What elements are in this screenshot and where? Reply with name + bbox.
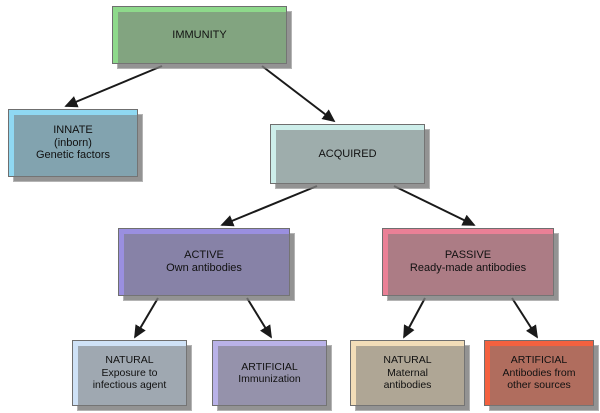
node-title: IMMUNITY [172, 29, 226, 42]
node-subtitle-2: infectious agent [93, 379, 167, 391]
connector-immunity-to-acquired [262, 66, 334, 121]
diagram-canvas: IMMUNITYINNATE(inborn)Genetic factorsACQ… [0, 0, 600, 413]
node-subtitle-1: (inborn) [54, 137, 92, 150]
node-subtitle-1: Immunization [238, 373, 300, 385]
node-title: NATURAL [383, 354, 431, 366]
connector-acquired-to-active [222, 186, 317, 225]
node-passive-natural[interactable]: NATURALMaternalantibodies [350, 340, 465, 406]
connector-passive-to-natural [404, 298, 425, 337]
node-title: NATURAL [105, 354, 153, 366]
node-title: ACTIVE [184, 249, 224, 262]
node-subtitle-1: Exposure to [101, 367, 157, 379]
connector-active-to-artificial [247, 298, 271, 337]
node-passive-artificial[interactable]: ARTIFICIALAntibodies fromother sources [484, 340, 594, 406]
node-subtitle-1: Maternal [387, 367, 428, 379]
node-acquired[interactable]: ACQUIRED [270, 124, 425, 184]
node-title: ARTIFICIAL [511, 354, 567, 366]
node-subtitle-2: antibodies [384, 379, 432, 391]
node-title: ARTIFICIAL [241, 361, 297, 373]
node-immunity[interactable]: IMMUNITY [112, 6, 287, 64]
connector-active-to-natural [135, 298, 158, 337]
node-active[interactable]: ACTIVEOwn antibodies [118, 228, 290, 296]
node-innate[interactable]: INNATE(inborn)Genetic factors [8, 109, 138, 177]
connector-passive-to-artificial [512, 298, 537, 337]
node-subtitle-2: Genetic factors [36, 149, 110, 162]
node-active-artificial[interactable]: ARTIFICIALImmunization [212, 340, 327, 406]
node-active-natural[interactable]: NATURALExposure toinfectious agent [72, 340, 187, 406]
connector-immunity-to-innate [66, 66, 162, 106]
node-subtitle-1: Ready-made antibodies [410, 262, 526, 275]
node-title: INNATE [53, 124, 93, 137]
node-subtitle-1: Antibodies from [503, 367, 576, 379]
connector-acquired-to-passive [394, 186, 474, 225]
node-title: PASSIVE [445, 249, 491, 262]
node-title: ACQUIRED [318, 148, 376, 161]
node-subtitle-1: Own antibodies [166, 262, 242, 275]
node-passive[interactable]: PASSIVEReady-made antibodies [382, 228, 554, 296]
node-subtitle-2: other sources [507, 379, 571, 391]
